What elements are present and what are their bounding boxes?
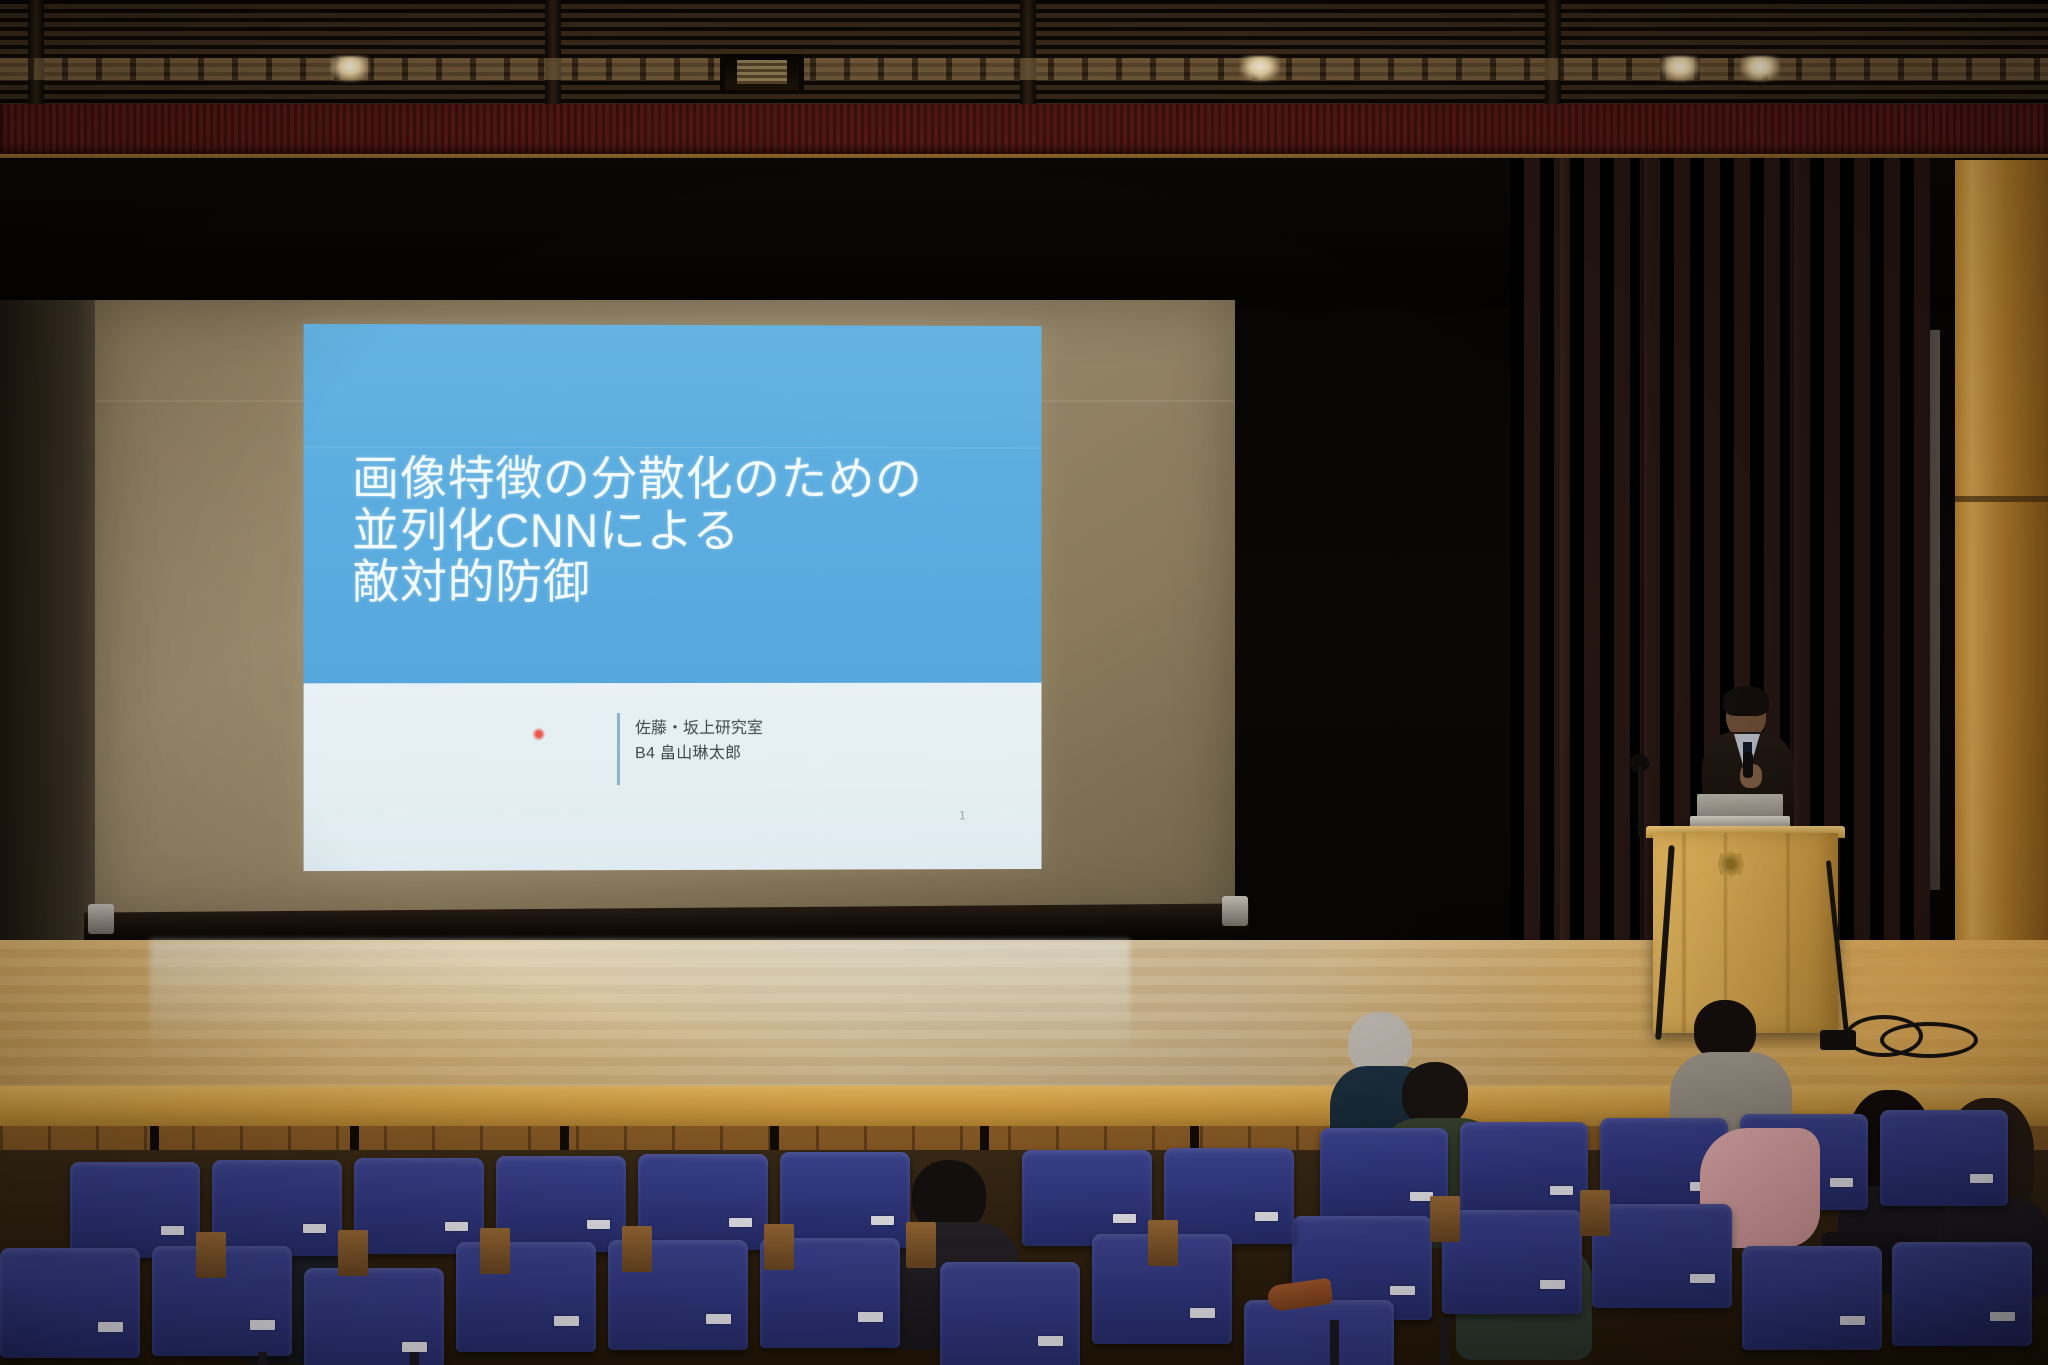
seat-leg [1330, 1320, 1339, 1365]
auditorium-seat[interactable] [1442, 1210, 1582, 1314]
podium [1653, 833, 1838, 1033]
microphone-stand [1638, 765, 1642, 837]
auditorium-seat[interactable] [0, 1248, 140, 1358]
seat-armrest [1580, 1190, 1610, 1236]
ceiling-beam [545, 0, 561, 112]
ceiling-vent-grille [737, 60, 787, 84]
seat-number-label [1190, 1308, 1215, 1318]
seat-number-label [1390, 1286, 1415, 1295]
stage-floor-reflection [150, 940, 1130, 1060]
seat-leg [1440, 1318, 1449, 1365]
curtain-fold [1560, 158, 1570, 948]
seat-number-label [554, 1316, 579, 1326]
seat-armrest [1148, 1220, 1178, 1266]
auditorium-seat[interactable] [1892, 1242, 2032, 1346]
ceiling-downlight-icon [1240, 56, 1280, 82]
screen-bar-end-cap [88, 904, 114, 934]
seat-number-label [1113, 1214, 1136, 1223]
ceiling-beam [28, 0, 44, 112]
ceiling-beam [1020, 0, 1036, 112]
auditorium-seat[interactable] [1320, 1128, 1448, 1224]
slide-author-lab: 佐藤・坂上研究室 [635, 717, 763, 742]
seat-number-label [1970, 1174, 1993, 1183]
seat-leg [258, 1352, 267, 1365]
seat-number-label [402, 1342, 427, 1352]
presenter-hair [1723, 686, 1769, 716]
seat-number-label [587, 1220, 610, 1229]
seat-armrest [196, 1232, 226, 1278]
floor-power-box [1820, 1030, 1856, 1050]
seat-number-label [303, 1224, 326, 1233]
seat-number-label [706, 1314, 731, 1324]
seat-armrest [480, 1228, 510, 1274]
ceiling-downlight-icon [330, 56, 370, 82]
attendee-head [1348, 1012, 1412, 1074]
auditorium-seat[interactable] [638, 1154, 768, 1250]
seat-number-label [1690, 1274, 1715, 1283]
auditorium-seat[interactable] [1164, 1148, 1294, 1244]
ceiling-downlight-icon [1660, 56, 1700, 82]
seat-number-label [1990, 1312, 2015, 1321]
seat-number-label [871, 1216, 894, 1225]
slide-page-number: 1 [959, 808, 966, 822]
projected-slide: 画像特徴の分散化のための 並列化CNNによる 敵対的防御 佐藤・坂上研究室 B4… [304, 324, 1042, 871]
seat-number-label [161, 1226, 184, 1235]
auditorium-seat[interactable] [212, 1160, 342, 1256]
auditorium-seat[interactable] [1244, 1300, 1394, 1365]
seat-number-label [1840, 1316, 1865, 1325]
door-panel-line [1955, 496, 2048, 502]
seat-armrest [1430, 1196, 1460, 1242]
auditorium-seat[interactable] [940, 1262, 1080, 1365]
attendee-head [1694, 1000, 1756, 1060]
slide-body-band [304, 683, 1042, 871]
seat-number-label [1540, 1280, 1565, 1289]
ceiling-downlight-icon [1740, 56, 1780, 82]
auditorium-seat[interactable] [1880, 1110, 2008, 1206]
seat-number-label [729, 1218, 752, 1227]
seat-number-label [250, 1320, 275, 1330]
seat-armrest [622, 1226, 652, 1272]
upper-wall-band [0, 104, 2048, 156]
podium-wood-grain [1681, 833, 1687, 1033]
slide-accent-rule [617, 713, 620, 785]
ceiling-beam [1545, 0, 1561, 112]
slide-author-name: B4 畠山琳太郎 [635, 742, 763, 767]
attendee-head [1402, 1062, 1468, 1126]
auditorium-scene: 画像特徴の分散化のための 並列化CNNによる 敵対的防御 佐藤・坂上研究室 B4… [0, 0, 2048, 1365]
seat-number-label [445, 1222, 468, 1231]
auditorium-seat[interactable] [304, 1268, 444, 1365]
auditorium-seat[interactable] [354, 1158, 484, 1254]
auditorium-seat[interactable] [1460, 1122, 1588, 1218]
seat-armrest [906, 1222, 936, 1268]
auditorium-seat[interactable] [456, 1242, 596, 1352]
floor-cable-coil [1880, 1022, 1978, 1058]
presenter-handheld-microphone [1743, 752, 1753, 778]
stage-door-frame [1955, 160, 2048, 1000]
seat-leg [410, 1352, 419, 1365]
seat-number-label [858, 1312, 883, 1322]
ceiling-vent [720, 54, 804, 90]
screen-bar-end-cap [1222, 896, 1248, 926]
seat-number-label [1255, 1212, 1278, 1221]
laser-pointer-dot [533, 728, 545, 740]
auditorium-seat[interactable] [1742, 1246, 1882, 1350]
seat-number-label [1830, 1178, 1853, 1187]
auditorium-seat[interactable] [1592, 1204, 1732, 1308]
seat-number-label [98, 1322, 123, 1332]
seat-number-label [1550, 1186, 1573, 1195]
seat-number-label [1038, 1336, 1063, 1346]
auditorium-seat[interactable] [780, 1152, 910, 1248]
slide-title: 画像特徴の分散化のための 並列化CNNによる 敵対的防御 [352, 453, 1012, 609]
podium-university-emblem-icon [1718, 851, 1744, 877]
auditorium-seat[interactable] [1022, 1150, 1152, 1246]
slide-author-block: 佐藤・坂上研究室 B4 畠山琳太郎 [635, 717, 763, 767]
left-side-wall [0, 300, 95, 940]
laptop-lid[interactable] [1697, 794, 1783, 818]
seat-armrest [764, 1224, 794, 1270]
auditorium-seat[interactable] [70, 1162, 200, 1258]
seat-armrest [338, 1230, 368, 1276]
podium-wood-grain [1785, 833, 1791, 1033]
auditorium-seat[interactable] [496, 1156, 626, 1252]
